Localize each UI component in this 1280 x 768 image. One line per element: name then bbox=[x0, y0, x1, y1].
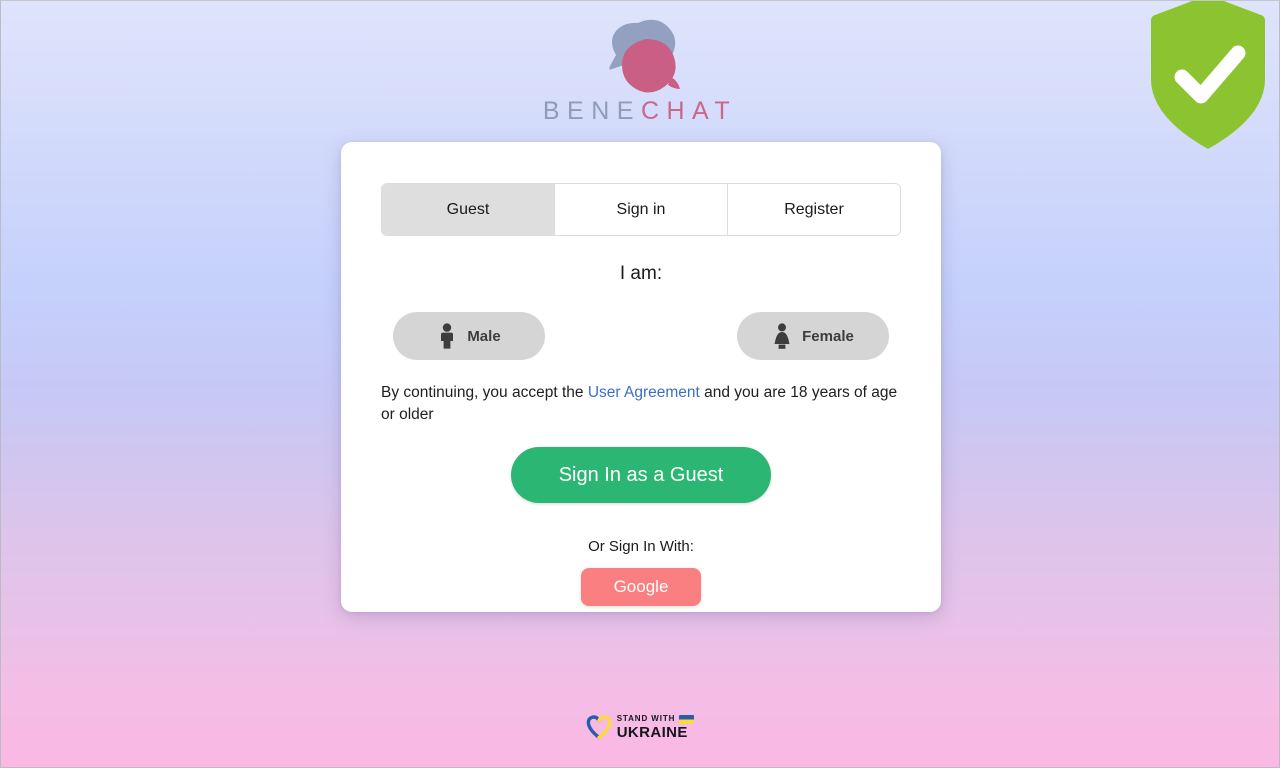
chat-bubbles-logo-icon bbox=[592, 15, 688, 95]
app-viewport: BENECHAT Guest Sign in Register I am: Ma… bbox=[0, 0, 1280, 768]
ukraine-stand-with-label: STAND WITH bbox=[617, 715, 676, 723]
brand-wordmark: BENECHAT bbox=[543, 99, 737, 124]
gender-option-female[interactable]: Female bbox=[737, 312, 889, 360]
tab-guest-label: Guest bbox=[447, 201, 490, 219]
ukraine-stand-with-row: STAND WITH bbox=[617, 715, 695, 724]
gender-prompt: I am: bbox=[381, 264, 901, 283]
agreement-text: By continuing, you accept the User Agree… bbox=[381, 382, 901, 426]
auth-card: Guest Sign in Register I am: Male bbox=[341, 142, 941, 612]
alt-signin-label: Or Sign In With: bbox=[381, 539, 901, 554]
tab-register-label: Register bbox=[784, 201, 844, 219]
tab-signin-label: Sign in bbox=[617, 201, 666, 219]
sign-in-as-guest-button[interactable]: Sign In as a Guest bbox=[511, 447, 771, 503]
primary-action-row: Sign In as a Guest bbox=[381, 447, 901, 503]
ukraine-flag-icon bbox=[679, 715, 694, 724]
brand-header: BENECHAT bbox=[1, 15, 1279, 124]
ukraine-country-label: UKRAINE bbox=[617, 725, 695, 740]
tab-register[interactable]: Register bbox=[728, 184, 900, 235]
gender-selector: Male Female bbox=[381, 312, 901, 360]
agreement-prefix: By continuing, you accept the bbox=[381, 384, 588, 401]
tab-guest[interactable]: Guest bbox=[382, 184, 555, 235]
gender-option-male[interactable]: Male bbox=[393, 312, 545, 360]
male-person-icon bbox=[437, 323, 457, 349]
stand-with-ukraine-badge: STAND WITH UKRAINE bbox=[1, 714, 1279, 740]
auth-tab-bar: Guest Sign in Register bbox=[381, 183, 901, 236]
gender-option-male-label: Male bbox=[467, 329, 500, 344]
user-agreement-link[interactable]: User Agreement bbox=[588, 384, 700, 401]
female-person-icon bbox=[772, 323, 792, 349]
tab-signin[interactable]: Sign in bbox=[555, 184, 728, 235]
brand-wordmark-first: BENE bbox=[543, 97, 641, 125]
alt-signin-row: Google bbox=[381, 568, 901, 606]
brand-logo-mark bbox=[592, 15, 688, 95]
ukraine-heart-icon bbox=[586, 714, 612, 740]
ukraine-badge-text: STAND WITH UKRAINE bbox=[617, 715, 695, 740]
gender-option-female-label: Female bbox=[802, 329, 854, 344]
brand-wordmark-second: CHAT bbox=[641, 97, 737, 125]
google-signin-button[interactable]: Google bbox=[581, 568, 701, 606]
